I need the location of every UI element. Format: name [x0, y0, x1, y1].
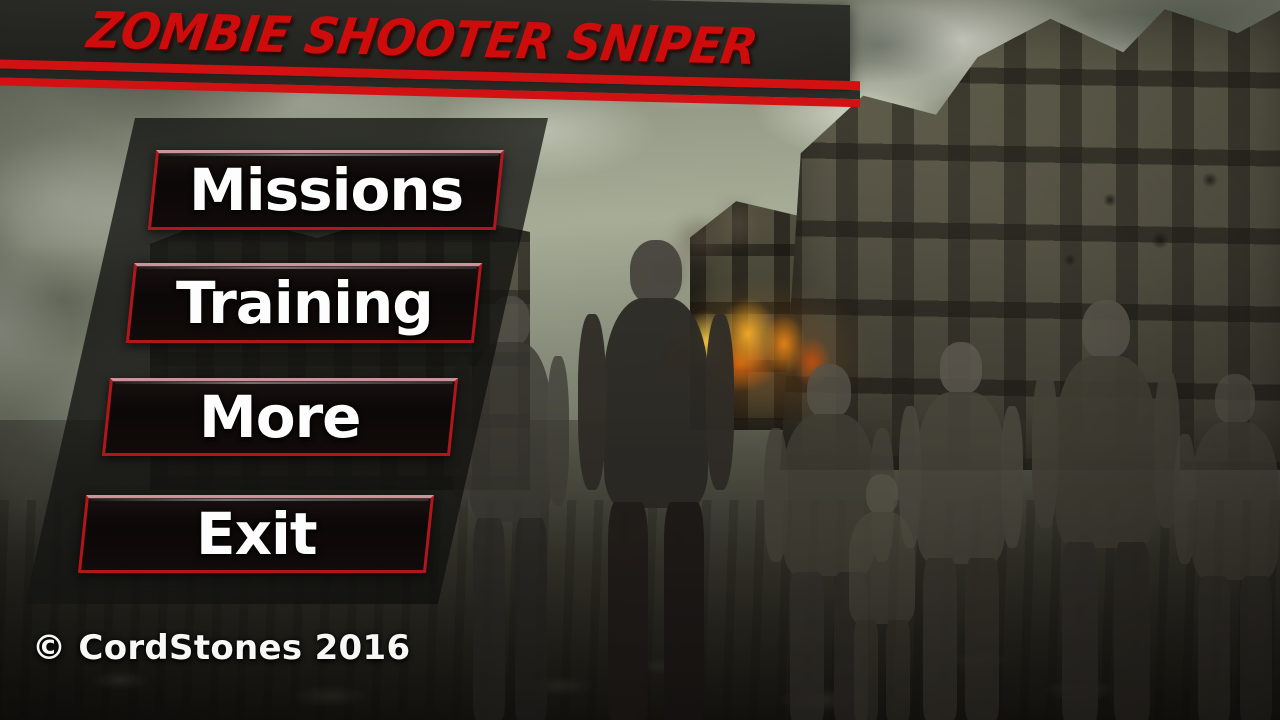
zombie-figure: [586, 240, 726, 720]
zombie-figure: [840, 470, 924, 720]
menu-button-more[interactable]: More: [102, 378, 458, 456]
game-main-menu-screen: ZOMBIE SHOOTER SNIPER Missions Training …: [0, 0, 1280, 720]
background-scene: [0, 0, 1280, 720]
copyright-notice: © CordStones 2016: [32, 628, 410, 668]
zombie-figure: [1040, 300, 1172, 720]
zombie-figure: [1180, 370, 1280, 720]
menu-button-more-label: More: [199, 383, 361, 451]
menu-button-exit-label: Exit: [196, 500, 317, 568]
menu-button-exit[interactable]: Exit: [78, 495, 434, 573]
menu-button-training[interactable]: Training: [126, 263, 482, 343]
menu-button-missions[interactable]: Missions: [148, 150, 504, 230]
menu-button-missions-label: Missions: [189, 156, 463, 224]
menu-button-training-label: Training: [176, 269, 433, 337]
zombie-figure: [455, 290, 565, 720]
